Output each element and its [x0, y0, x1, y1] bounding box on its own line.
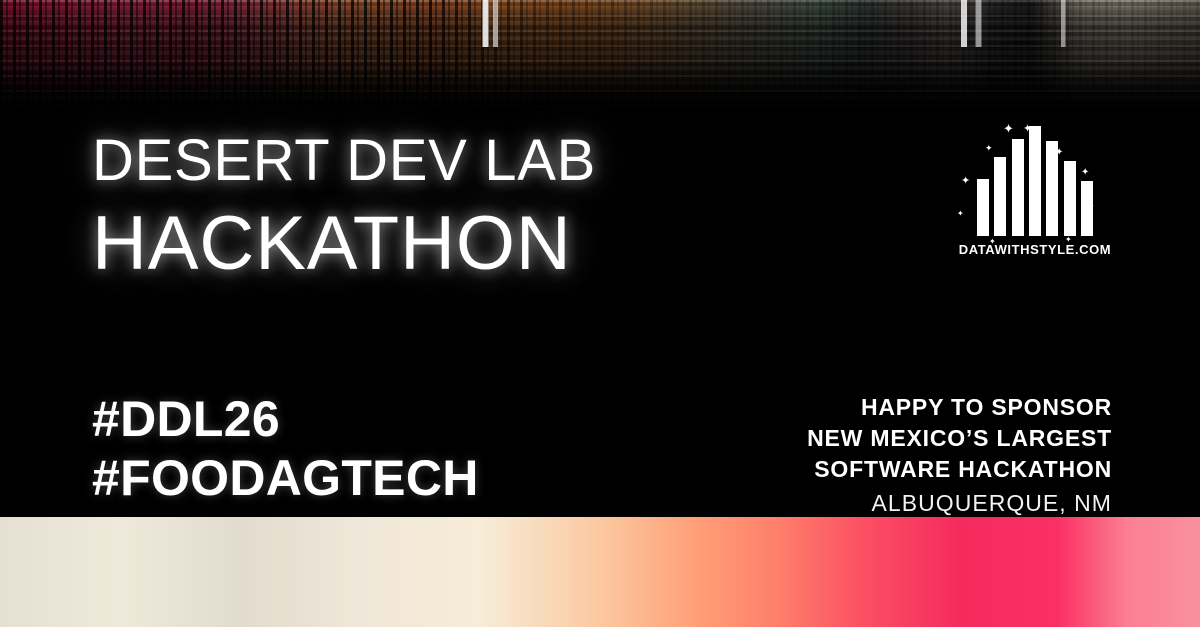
sponsor-city: ALBUQUERQUE, NM: [807, 488, 1112, 519]
logo-bar-6: [1064, 161, 1076, 236]
sponsor-block: HAPPY TO SPONSOR NEW MEXICO’S LARGEST SO…: [807, 392, 1112, 519]
sparkle-icon-2: ✦: [957, 210, 964, 218]
hashtag-foodagtech: #FOODAGTECH: [92, 449, 479, 508]
hashtag-group: #DDL26 #FOODAGTECH: [92, 390, 479, 508]
sparkle-icon-6: ✦: [1031, 164, 1039, 174]
headline: DESERT DEV LAB HACKATHON: [92, 132, 596, 282]
bar-chart-logo-icon: [977, 126, 1093, 236]
logo-bar-4: [1029, 126, 1041, 236]
sparkle-icon-5: ✦: [1023, 124, 1032, 135]
hashtag-ddl26: #DDL26: [92, 390, 479, 449]
sponsor-line-3: SOFTWARE HACKATHON: [807, 454, 1112, 485]
poster-canvas: DESERT DEV LAB HACKATHON #DDL26 #FOODAGT…: [0, 0, 1200, 627]
logo-wordmark: DATAWITHSTYLE.COM: [955, 242, 1115, 257]
sparkle-icon-1: ✦: [961, 176, 970, 187]
logo-bar-2: [994, 157, 1006, 236]
top-glitch-band: [0, 0, 1200, 112]
sparkle-icon-10: ✦: [989, 238, 996, 246]
top-band-fade: [0, 0, 1200, 112]
sparkle-icon-11: ✦: [1065, 236, 1072, 244]
bottom-band-base-strip: [0, 517, 1200, 627]
sponsor-line-2: NEW MEXICO’S LARGEST: [807, 423, 1112, 454]
logo-bar-1: [977, 179, 989, 236]
headline-line-1: DESERT DEV LAB: [92, 132, 596, 190]
headline-line-2: HACKATHON: [92, 206, 596, 282]
sponsor-line-1: HAPPY TO SPONSOR: [807, 392, 1112, 423]
datawithstyle-logo[interactable]: DATAWITHSTYLE.COM ✦✦✦✦✦✦✦✦✦✦✦: [955, 118, 1115, 268]
sparkle-icon-8: ✦: [1081, 168, 1089, 178]
bottom-glitch-band: [0, 517, 1200, 627]
sparkle-icon-9: ✦: [1087, 202, 1095, 211]
sparkle-icon-7: ✦: [1055, 148, 1063, 158]
logo-bar-3: [1012, 139, 1024, 236]
sparkle-icon-4: ✦: [1003, 122, 1014, 135]
sparkle-icon-3: ✦: [985, 144, 993, 153]
